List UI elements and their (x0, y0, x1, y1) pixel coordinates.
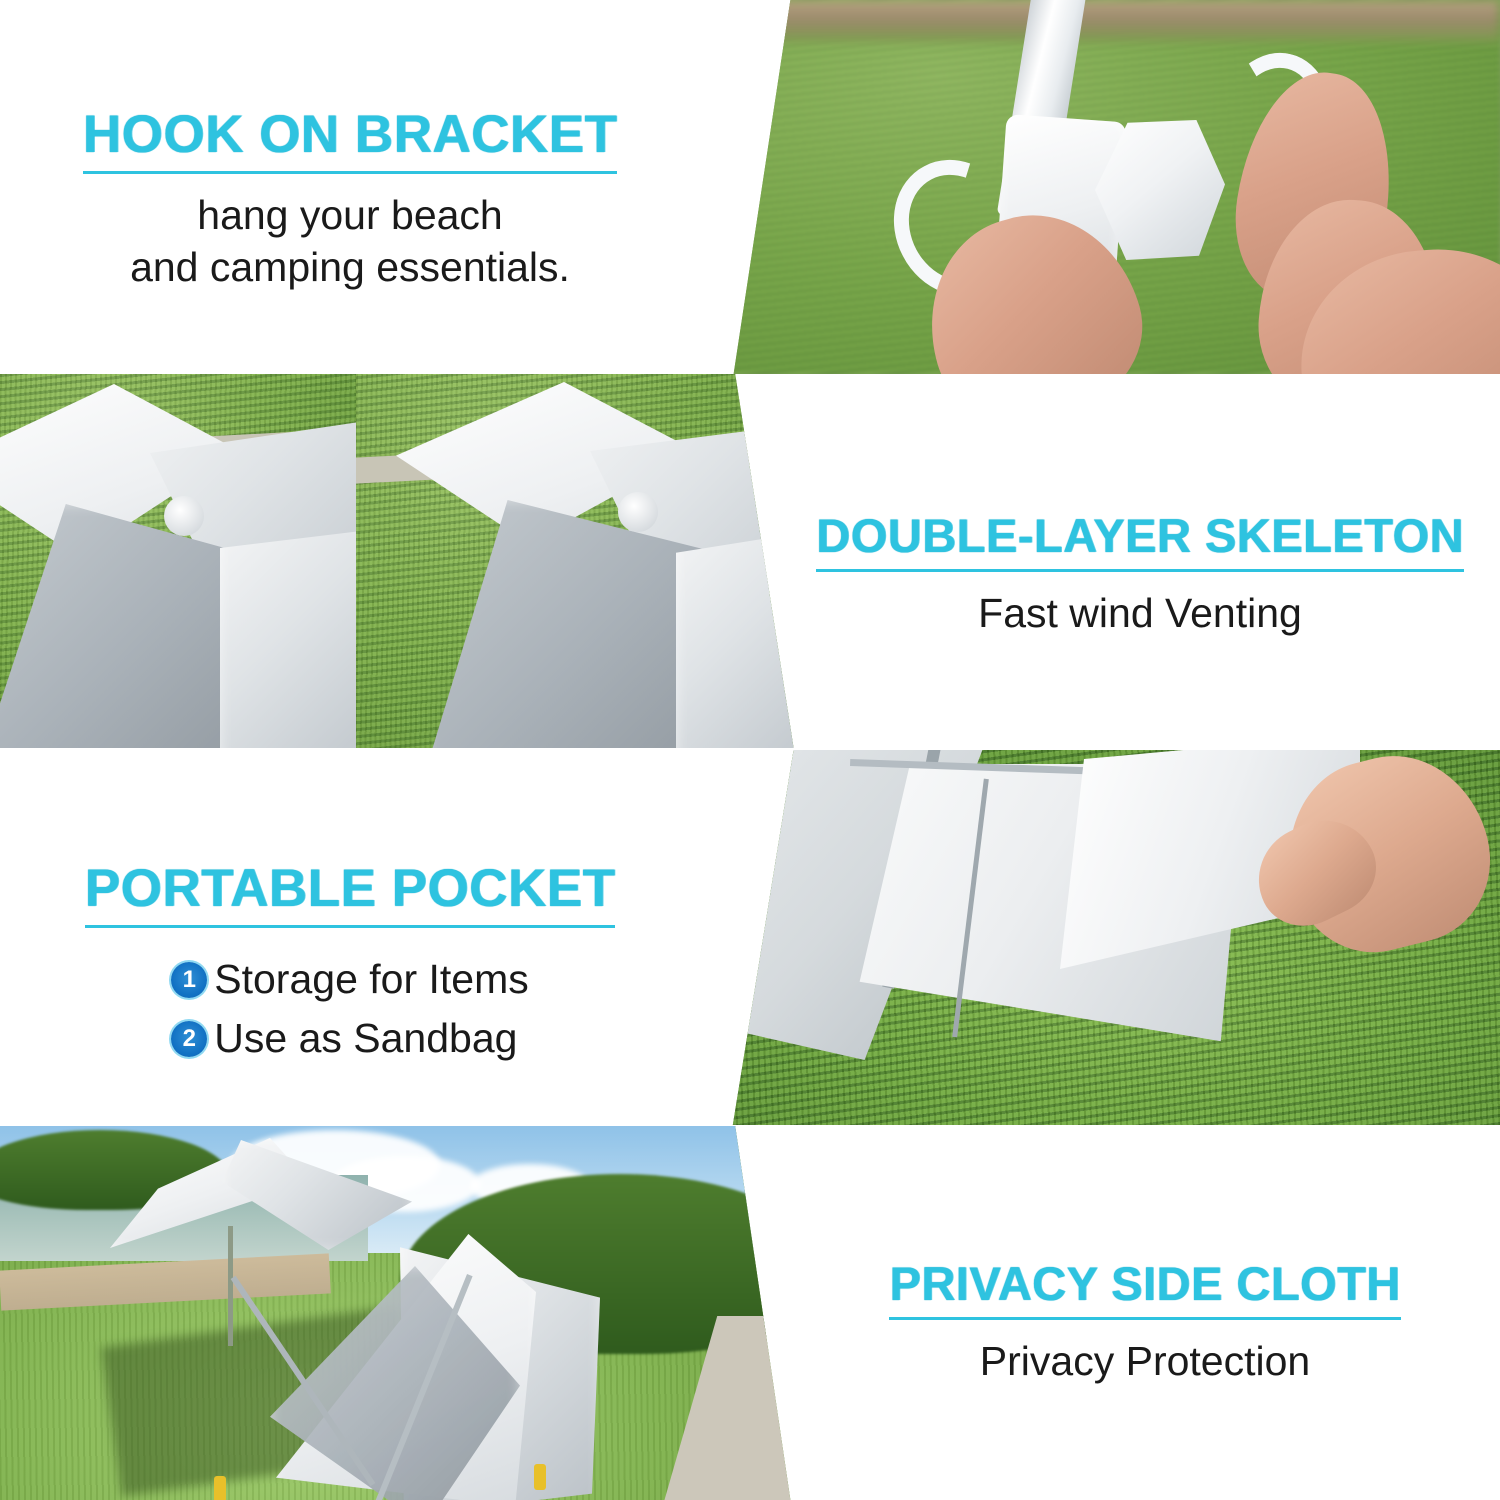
ground-peg-right (534, 1464, 546, 1490)
headline-hook-on-bracket: HOOK ON BRACKET (83, 108, 618, 174)
ground-peg-left (214, 1476, 226, 1500)
canopy-right-side-panel (676, 524, 800, 748)
blurred-background-strip (700, 0, 1500, 42)
feature-section-double-layer-skeleton: DOUBLE-LAYER SKELETON Fast wind Venting (0, 374, 1500, 748)
subtext-hook-on-bracket: hang your beach and camping essentials. (130, 190, 570, 293)
headline-privacy-side-cloth: PRIVACY SIDE CLOTH (889, 1260, 1400, 1320)
photo-scene-canopy-pair (0, 374, 800, 748)
bullet-label-sandbag: Use as Sandbag (214, 1015, 517, 1062)
text-panel-hook-on-bracket: HOOK ON BRACKET hang your beach and camp… (0, 0, 700, 374)
text-panel-double-layer-skeleton: DOUBLE-LAYER SKELETON Fast wind Venting (790, 374, 1490, 748)
photo-portable-pocket (700, 750, 1500, 1125)
canopy-left-hub (164, 496, 204, 536)
feature-section-privacy-side-cloth: PRIVACY SIDE CLOTH Privacy Protection (0, 1126, 1500, 1500)
canopy-left-side-panel (220, 524, 356, 748)
canopy-shot-left (0, 374, 356, 748)
portable-pocket-bullet-list: 1 Storage for Items 2 Use as Sandbag (171, 956, 528, 1062)
bullet-label-storage: Storage for Items (214, 956, 528, 1003)
photo-scene-lakeside-shelter (0, 1126, 800, 1500)
canopy-right-hub (618, 492, 658, 532)
list-item: 2 Use as Sandbag (171, 1015, 528, 1062)
feature-section-portable-pocket: PORTABLE POCKET 1 Storage for Items 2 Us… (0, 750, 1500, 1125)
photo-double-layer-skeleton (0, 374, 800, 748)
text-panel-privacy-side-cloth: PRIVACY SIDE CLOTH Privacy Protection (800, 1126, 1490, 1500)
number-badge-1: 1 (171, 962, 207, 998)
list-item: 1 Storage for Items (171, 956, 528, 1003)
text-panel-portable-pocket: PORTABLE POCKET 1 Storage for Items 2 Us… (0, 750, 700, 1125)
headline-portable-pocket: PORTABLE POCKET (85, 862, 616, 928)
photo-scene-hook-bracket (700, 0, 1500, 374)
tarp-pole (228, 1226, 233, 1346)
photo-scene-pocket (700, 750, 1500, 1125)
product-infographic: HOOK ON BRACKET hang your beach and camp… (0, 0, 1500, 1500)
headline-double-layer-skeleton: DOUBLE-LAYER SKELETON (816, 512, 1464, 572)
photo-privacy-side-cloth (0, 1126, 800, 1500)
canopy-shot-right (356, 374, 800, 748)
feature-section-hook-on-bracket: HOOK ON BRACKET hang your beach and camp… (0, 0, 1500, 374)
subtext-privacy-side-cloth: Privacy Protection (980, 1336, 1310, 1388)
photo-hook-on-bracket (700, 0, 1500, 374)
subtext-double-layer-skeleton: Fast wind Venting (978, 588, 1302, 640)
number-badge-2: 2 (171, 1021, 207, 1057)
